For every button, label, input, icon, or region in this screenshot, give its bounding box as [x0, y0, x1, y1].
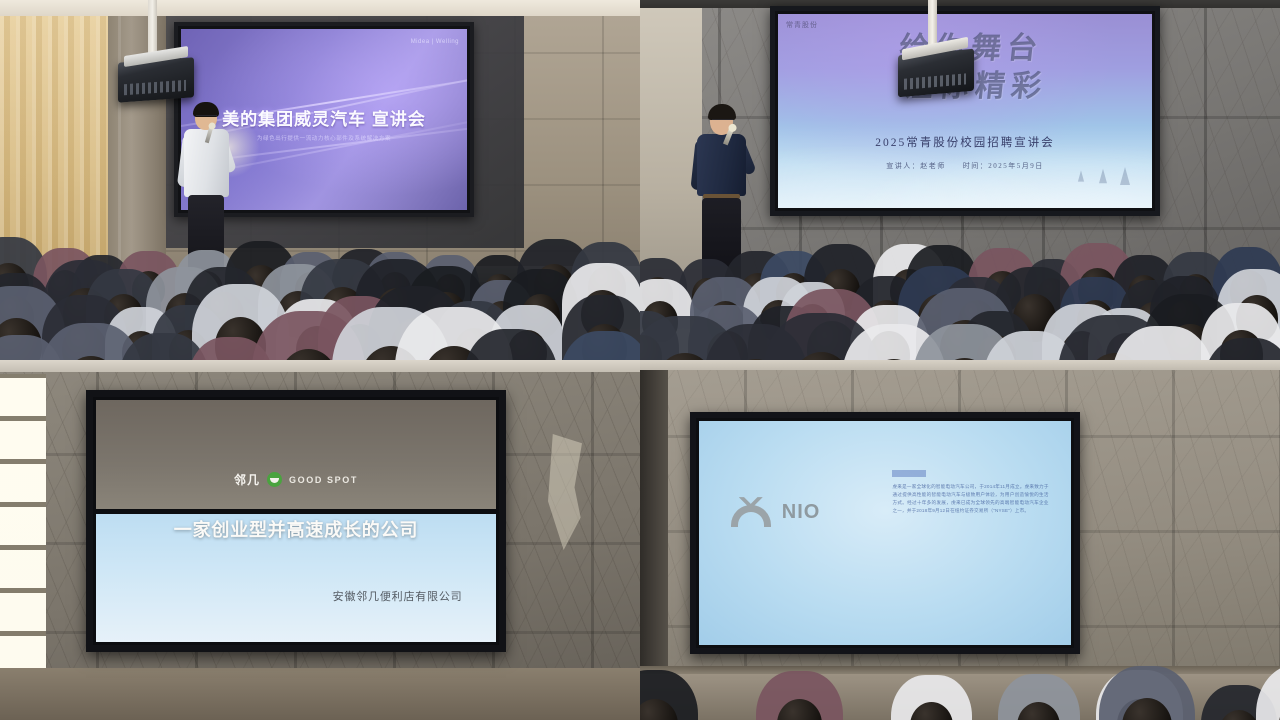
- audience-person: [40, 323, 141, 360]
- audience-head: [338, 324, 383, 360]
- slide-upper-band: [96, 400, 496, 509]
- audience-head: [582, 324, 627, 360]
- presentation-slide: NIO 虔来是一家全球化的智能电动汽车公司，于2014年11月成立。虔来致力于通…: [699, 421, 1071, 645]
- projection-screen: 邻几 GOOD SPOT 一家创业型并高速成长的公司 安徽邻几便利店有限公司: [86, 390, 506, 652]
- audience-head: [508, 330, 547, 360]
- speaker-person: [182, 105, 230, 270]
- photo-panel-bottom-left: 邻几 GOOD SPOT 一家创业型并高速成长的公司 安徽邻几便利店有限公司: [0, 360, 640, 720]
- photo-panel-bottom-right: NIO 虔来是一家全球化的智能电动汽车公司，于2014年11月成立。虔来致力于通…: [640, 360, 1280, 720]
- audience-person: [119, 333, 209, 360]
- brand-logo-text: 常青股份: [786, 20, 818, 30]
- audience-head: [0, 296, 34, 338]
- slide-meta: 宣讲人：赵老师 时间：2025年5月9日: [778, 161, 1152, 171]
- projection-screen: NIO 虔来是一家全球化的智能电动汽车公司，于2014年11月成立。虔来致力于通…: [690, 412, 1080, 654]
- good-spot-logo-icon: [267, 472, 282, 487]
- nio-logo-lockup: NIO: [729, 497, 821, 527]
- audience-person: [560, 331, 640, 360]
- audience-person: [252, 311, 365, 360]
- audience-head: [391, 318, 441, 360]
- audience-head: [791, 352, 852, 360]
- audience-head: [215, 317, 266, 360]
- window: [0, 374, 46, 674]
- projector-icon: [118, 57, 194, 102]
- audience-person: [188, 337, 274, 360]
- brand-name: NIO: [782, 501, 821, 524]
- audience-person: [1204, 338, 1280, 360]
- brand-lockup: 邻几 GOOD SPOT: [93, 471, 499, 488]
- audience-person: [464, 329, 558, 360]
- audience-person: [0, 335, 64, 360]
- projector-icon: [898, 49, 974, 98]
- audience-head: [655, 353, 715, 360]
- audience-head: [63, 288, 108, 338]
- calligraphy-line-2: 让你精彩: [828, 67, 1123, 105]
- audience-head: [977, 335, 1015, 360]
- audience-person: [0, 286, 65, 360]
- side-table: [476, 266, 640, 282]
- section-tag: [892, 470, 926, 477]
- audience-head: [296, 326, 339, 360]
- photo-collage: Midea | Welling 美的集团威灵汽车 宣讲会 为绿色出行提供一流动力…: [0, 0, 1280, 720]
- slide-footer: 安徽邻几便利店有限公司: [333, 588, 463, 604]
- speaker-person: [696, 108, 748, 288]
- stage-curtain: [0, 16, 120, 286]
- audience-head: [1085, 353, 1145, 360]
- slide-title: 2025常青股份校园招聘宣讲会: [778, 134, 1152, 150]
- baseboard: [640, 666, 1280, 674]
- audience-head: [62, 324, 107, 360]
- brand-logo-text: Midea | Welling: [411, 39, 459, 45]
- brand-name-cn: 邻几: [234, 471, 260, 488]
- slide-body-block: 虔来是一家全球化的智能电动汽车公司，于2014年11月成立。虔来致力于通过提供高…: [892, 470, 1048, 515]
- nio-logo-icon: [729, 497, 773, 527]
- slide-headline: 一家创业型并高速成长的公司: [93, 516, 499, 542]
- audience-head: [279, 349, 339, 360]
- slide-body-text: 虔来是一家全球化的智能电动汽车公司，于2014年11月成立。虔来致力于通过提供高…: [892, 483, 1048, 515]
- audience-head: [640, 335, 662, 360]
- floor: [640, 674, 1280, 720]
- photo-panel-top-left: Midea | Welling 美的集团威灵汽车 宣讲会 为绿色出行提供一流动力…: [0, 0, 640, 360]
- audience-head: [360, 346, 422, 360]
- audience-head: [169, 330, 208, 360]
- floor: [0, 668, 640, 720]
- photo-panel-top-right: 常青股份 给你舞台 让你精彩 2025常青股份校园招聘宣讲会 宣讲人：赵老师 时…: [640, 0, 1280, 360]
- audience-head: [122, 331, 160, 360]
- yellow-bin: [444, 320, 474, 352]
- brand-name-en: GOOD SPOT: [289, 475, 358, 485]
- audience-head: [0, 318, 42, 360]
